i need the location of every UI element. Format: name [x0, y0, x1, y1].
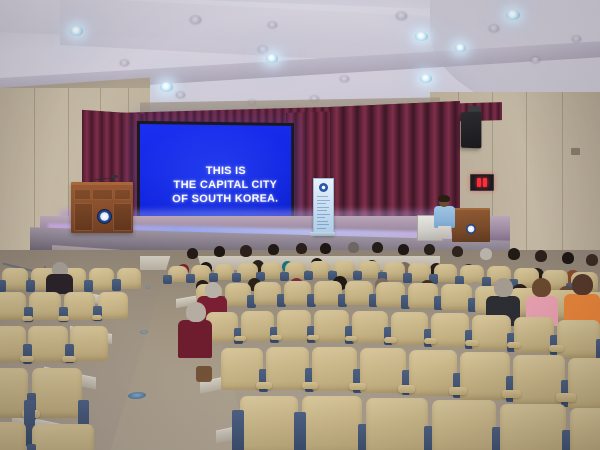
- seat-armrest: [345, 336, 357, 341]
- seat[interactable]: [285, 262, 306, 279]
- ceiling-downlight-icon: [506, 10, 520, 20]
- seat-armrest: [302, 382, 318, 389]
- seat-side-panel: [294, 412, 306, 450]
- seat[interactable]: [366, 398, 428, 450]
- seat-armrest: [449, 387, 467, 395]
- institution-emblem-icon: [97, 209, 112, 224]
- seat[interactable]: [352, 311, 388, 343]
- ceiling-downlight-icon: [455, 44, 466, 52]
- seat[interactable]: [214, 264, 234, 280]
- seat-armrest: [92, 315, 102, 320]
- seat[interactable]: [98, 292, 128, 319]
- seat[interactable]: [89, 268, 114, 290]
- banner-base: [310, 232, 335, 236]
- seat[interactable]: [383, 262, 405, 280]
- attendee-head: [562, 252, 574, 264]
- ceiling-downlight-icon: [420, 74, 432, 83]
- seat-armrest: [234, 336, 246, 341]
- ceiling-downlight-icon: [396, 12, 407, 20]
- wall-outlet-plate: [571, 148, 580, 155]
- seat-armrest: [349, 383, 366, 390]
- ceiling-downlight-icon: [268, 22, 277, 28]
- ceiling-downlight-icon: [572, 36, 581, 42]
- seat[interactable]: [333, 261, 355, 278]
- ceiling-downlight-icon: [70, 26, 83, 36]
- seat-armrest: [20, 356, 34, 362]
- side-lectern-emblem-icon: [466, 224, 476, 234]
- seat[interactable]: [460, 265, 484, 284]
- attendee-head: [296, 243, 307, 254]
- attendee-torso: [46, 274, 73, 294]
- presenter-torso: [434, 206, 455, 228]
- attendee-head: [572, 274, 593, 295]
- seat-armrest: [22, 316, 33, 321]
- seat[interactable]: [500, 404, 566, 450]
- bag-on-floor: [196, 366, 212, 382]
- seat[interactable]: [32, 424, 94, 450]
- lectern-podium: [71, 182, 133, 233]
- auditorium-photo: THIS IS THE CAPITAL CITY OF SOUTH KOREA.: [0, 0, 600, 450]
- slide-line-3: OF SOUTH KOREA.: [172, 192, 278, 207]
- seat[interactable]: [261, 262, 282, 279]
- presenter-hair: [438, 195, 450, 202]
- seat-armrest: [384, 337, 397, 343]
- emergency-exit-sign: [470, 174, 494, 191]
- seat[interactable]: [314, 281, 342, 305]
- seat[interactable]: [570, 408, 600, 450]
- attendee-head: [320, 243, 331, 254]
- ceiling-downlight-icon: [120, 60, 129, 66]
- seat[interactable]: [376, 282, 405, 307]
- ceiling-downlight-icon: [258, 46, 268, 53]
- ceiling-downlight-icon: [531, 57, 540, 63]
- loudspeaker-icon: [461, 112, 481, 149]
- attendee-head: [372, 242, 383, 253]
- attendee-head: [586, 254, 598, 266]
- seat[interactable]: [432, 400, 496, 450]
- attendee-head: [398, 244, 409, 255]
- seat[interactable]: [254, 282, 281, 305]
- seat[interactable]: [309, 261, 330, 278]
- presenter-legs: [438, 226, 451, 238]
- seat-armrest: [270, 335, 282, 340]
- seat[interactable]: [358, 261, 380, 278]
- attendee-head: [494, 278, 513, 297]
- attendee-head: [205, 282, 221, 298]
- presenter: [432, 196, 458, 238]
- attendee-head: [532, 278, 551, 297]
- slide-line-2: THE CAPITAL CITY: [172, 178, 278, 192]
- seat-armrest: [307, 335, 319, 340]
- seat[interactable]: [29, 292, 61, 320]
- attendee-head: [348, 242, 359, 253]
- attendee-head: [268, 244, 279, 255]
- ceiling-downlight-icon: [190, 16, 201, 24]
- seat[interactable]: [2, 268, 28, 290]
- attendee-head: [424, 244, 435, 255]
- attendee-head: [240, 245, 252, 257]
- seat[interactable]: [434, 264, 457, 282]
- seat[interactable]: [225, 283, 251, 306]
- ceiling-downlight-icon: [176, 92, 185, 98]
- attendee-head: [186, 302, 206, 322]
- seat[interactable]: [70, 326, 108, 361]
- attendee-head: [508, 248, 520, 260]
- seat[interactable]: [514, 317, 554, 353]
- attendee-head: [535, 250, 547, 262]
- attendee-head: [214, 246, 225, 257]
- banner-text-lines: [317, 196, 330, 231]
- attendee-head: [187, 248, 198, 259]
- seat-armrest: [465, 340, 479, 346]
- seat[interactable]: [345, 281, 373, 305]
- seat-side-panel: [232, 410, 244, 450]
- seat[interactable]: [117, 268, 141, 289]
- standing-banner: [313, 178, 334, 236]
- seat[interactable]: [408, 283, 438, 308]
- banner-logo-icon: [319, 183, 328, 192]
- attendee-head: [480, 248, 492, 260]
- seat-armrest: [556, 393, 576, 402]
- seat[interactable]: [64, 292, 95, 320]
- attendee-torso: [178, 320, 212, 358]
- seat-armrest: [62, 356, 76, 362]
- slide-text: THIS IS THE CAPITAL CITY OF SOUTH KOREA.: [154, 148, 279, 207]
- seat-armrest: [398, 385, 415, 393]
- ceiling-downlight-icon: [340, 76, 349, 82]
- seat[interactable]: [240, 396, 298, 450]
- seat-armrest: [502, 390, 521, 398]
- seat[interactable]: [568, 358, 600, 410]
- seat[interactable]: [408, 263, 431, 281]
- seat-armrest: [256, 382, 272, 389]
- seat-armrest: [424, 338, 437, 344]
- seat[interactable]: [314, 310, 349, 342]
- ceiling-downlight-icon: [489, 25, 499, 32]
- seat[interactable]: [0, 422, 26, 450]
- slide-line-1: THIS IS: [172, 164, 278, 178]
- ceiling-downlight-icon: [160, 82, 173, 92]
- seat-armrest: [58, 316, 69, 321]
- seat[interactable]: [557, 320, 600, 358]
- seat-armrest: [549, 345, 564, 352]
- attendee-head: [452, 246, 463, 257]
- seat[interactable]: [277, 310, 311, 341]
- seat[interactable]: [191, 265, 211, 281]
- seat[interactable]: [284, 281, 311, 305]
- seat[interactable]: [168, 266, 188, 282]
- seat[interactable]: [302, 396, 362, 450]
- seat[interactable]: [441, 284, 472, 310]
- ceiling-downlight-icon: [266, 54, 278, 63]
- ceiling-downlight-icon: [415, 32, 428, 41]
- seat-armrest: [507, 342, 521, 348]
